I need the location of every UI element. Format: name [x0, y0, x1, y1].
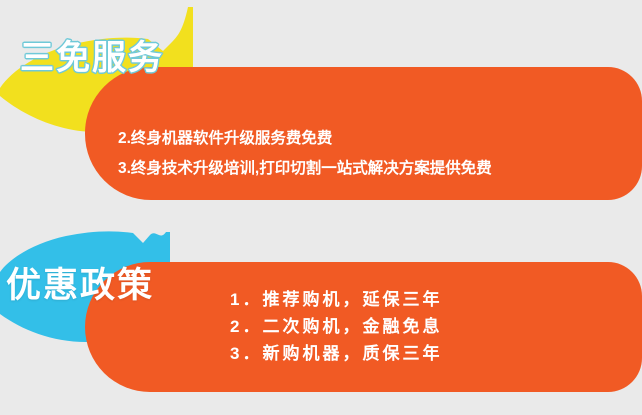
policy-item: 2．二次购机，金融免息 — [230, 313, 442, 340]
benefits-list-top: 2.终身机器软件升级服务费免费 3.终身技术升级培训,打印切割一站式解决方案提供… — [118, 124, 492, 184]
policy-item: 3．新购机器，质保三年 — [230, 340, 442, 367]
policy-item: 1．推荐购机，延保三年 — [230, 286, 442, 313]
policy-list-bottom: 1．推荐购机，延保三年 2．二次购机，金融免息 3．新购机器，质保三年 — [230, 286, 442, 367]
section-three-free-services: 三免服务 2.终身机器软件升级服务费免费 3.终身技术升级培训,打印切割一站式解… — [0, 0, 642, 207]
promo-poster: 三免服务 2.终身机器软件升级服务费免费 3.终身技术升级培训,打印切割一站式解… — [0, 0, 642, 415]
section-preferential-policy: 优惠政策 1．推荐购机，延保三年 2．二次购机，金融免息 3．新购机器，质保三年 — [0, 207, 642, 415]
section-title-preferential-policy: 优惠政策 — [6, 268, 154, 303]
benefit-item: 2.终身机器软件升级服务费免费 — [118, 124, 492, 154]
benefit-item: 3.终身技术升级培训,打印切割一站式解决方案提供免费 — [118, 154, 492, 184]
section-title-three-free-services: 三免服务 — [20, 41, 164, 75]
